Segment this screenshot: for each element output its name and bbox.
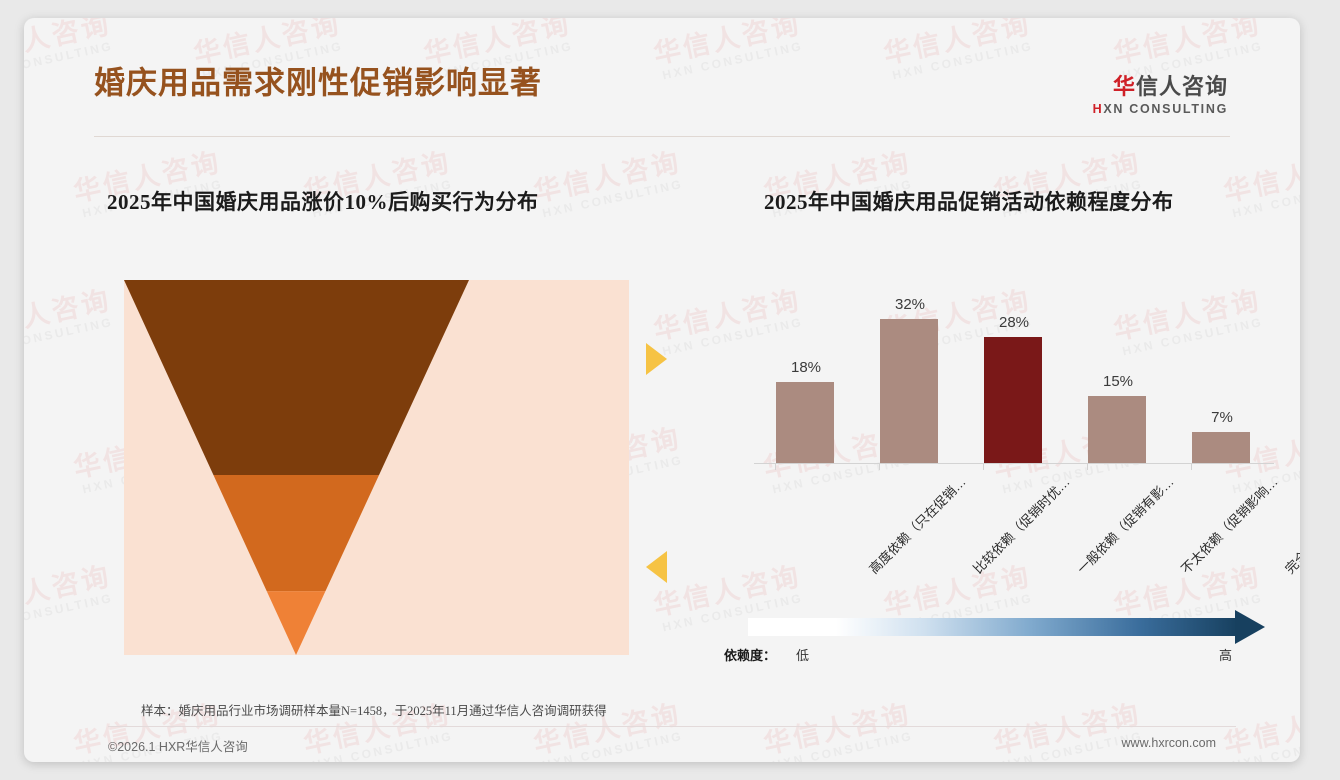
bar-value-label: 7% [1170,409,1274,426]
watermark-text: 华信人咨询HXN CONSULTING [1221,701,1300,762]
logo-english: HXN CONSULTING [1093,103,1228,116]
bar-column[interactable]: 15% [1066,268,1170,463]
funnel-chart [124,280,629,655]
x-axis-label: 完全不依赖（按需购… [1280,472,1300,577]
bar-column[interactable]: 7% [1170,268,1274,463]
bar-chart: 18%32%28%15%7% 高度依赖（只在促销…比较依赖（促销时优…一般依赖（… [724,268,1284,468]
bar-plot-area: 18%32%28%15%7% [754,268,1274,463]
arrow-right-icon [646,343,667,375]
bar-column[interactable]: 32% [858,268,962,463]
bar-value-label: 15% [1066,373,1170,390]
slide-header: 婚庆用品需求刚性促销影响显著 华信人咨询 HXN CONSULTING [24,18,1300,136]
x-axis-label: 不太依赖（促销影响… [1176,472,1281,577]
bar-column[interactable]: 18% [754,268,858,463]
footer-copyright: ©2026.1 HXR华信人咨询 [108,736,248,755]
watermark-text: 华信人咨询HXN CONSULTING [24,287,117,358]
bar-value-label: 28% [962,314,1066,331]
bar-column[interactable]: 28% [962,268,1066,463]
watermark-text: 华信人咨询HXN CONSULTING [531,149,686,220]
watermark-text: 华信人咨询HXN CONSULTING [1221,149,1300,220]
gradient-arrow-head-icon [1235,610,1265,644]
bar[interactable] [776,382,834,463]
x-axis-tick [1087,463,1088,470]
legend-title: 依赖度： [724,645,776,664]
gradient-arrow [748,613,1278,641]
x-axis-label: 一般依赖（促销有影… [1072,472,1177,577]
left-chart-title: 2025年中国婚庆用品涨价10%后购买行为分布 [107,186,539,216]
x-axis-tick [775,463,776,470]
logo-cn-gray: 信人咨询 [1136,74,1228,99]
footer-website[interactable]: www.hxrcon.com [1122,736,1216,750]
funnel-segment [267,591,326,655]
right-chart-title: 2025年中国婚庆用品促销活动依赖程度分布 [764,186,1174,216]
bar-value-label: 32% [858,296,962,313]
x-axis-tick [879,463,880,470]
watermark-text: 华信人咨询HXN CONSULTING [991,701,1146,762]
bar-value-label: 18% [754,359,858,376]
x-axis-label: 比较依赖（促销时优… [968,472,1073,577]
logo-chinese: 华信人咨询 [1093,76,1228,98]
funnel-segment [213,475,379,591]
bar[interactable] [1088,396,1146,463]
footer-divider [108,726,1236,727]
funnel-shape [124,280,629,655]
arrow-left-icon [646,551,667,583]
bar-highlighted[interactable] [984,337,1042,463]
x-axis-tick [1191,463,1192,470]
legend-high-label: 高 [1219,645,1232,664]
page-title: 婚庆用品需求刚性促销影响显著 [94,58,542,103]
x-axis-line [754,463,1274,464]
dependency-scale-legend: 依赖度： 低 高 [724,613,1284,673]
x-axis-label: 高度依赖（只在促销… [864,472,969,577]
bar[interactable] [1192,432,1250,463]
legend-low-label: 低 [796,645,809,664]
company-logo: 华信人咨询 HXN CONSULTING [1093,76,1228,116]
slide-canvas: 华信人咨询HXN CONSULTING华信人咨询HXN CONSULTING华信… [24,18,1300,762]
logo-cn-red: 华 [1113,74,1136,99]
logo-en-gray: XN CONSULTING [1103,102,1228,116]
header-divider [94,136,1230,137]
funnel-segment [124,280,469,475]
source-footnote: 样本：婚庆用品行业市场调研样本量N=1458，于2025年11月通过华信人咨询调… [141,700,607,719]
watermark-text: 华信人咨询HXN CONSULTING [761,701,916,762]
bar[interactable] [880,319,938,463]
watermark-text: 华信人咨询HXN CONSULTING [24,563,117,634]
logo-en-red: H [1093,102,1104,116]
x-axis-tick [983,463,984,470]
gradient-bar [748,618,1238,636]
